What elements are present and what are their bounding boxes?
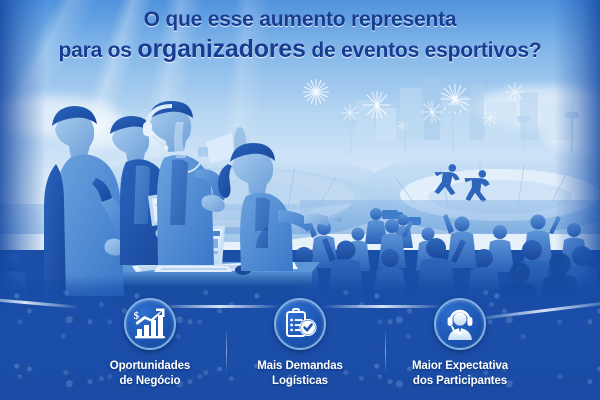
benefit-item-mais-demandas-logisticas[interactable]: Mais Demandas Logísticas	[225, 298, 375, 388]
benefit-item-oportunidades-de-negocio[interactable]: $ Oportunidades de Negócio	[75, 298, 225, 388]
headset-support-person-icon	[443, 307, 477, 341]
title-line-1: O que esse aumento representa	[0, 8, 600, 33]
benefit-label-line1: Oportunidades	[110, 360, 190, 372]
benefit-icon-circle[interactable]	[434, 298, 486, 350]
page-title: O que esse aumento representa para os or…	[0, 8, 600, 64]
benefit-label-line2: de Negócio	[120, 375, 181, 387]
benefit-label: Maior Expectativa dos Participantes	[385, 359, 535, 388]
benefit-icon-circle[interactable]: $	[124, 298, 176, 350]
growth-chart-dollar-icon: $	[133, 308, 167, 340]
title-emphasis: organizadores	[137, 35, 305, 63]
benefit-label: Oportunidades de Negócio	[75, 359, 225, 388]
benefit-label-line2: Logísticas	[272, 375, 328, 387]
title-line-2: para os organizadores de eventos esporti…	[0, 35, 600, 65]
benefit-icon-circle[interactable]	[274, 298, 326, 350]
benefit-label-line2: dos Participantes	[413, 375, 507, 387]
title-line-2-prefix: para os	[58, 39, 137, 62]
benefits-row: $ Oportunidades de Negócio	[0, 275, 600, 400]
benefit-label-line1: Mais Demandas	[257, 360, 343, 372]
svg-text:$: $	[134, 310, 140, 322]
benefit-label: Mais Demandas Logísticas	[225, 359, 375, 388]
benefit-item-maior-expectativa-dos-participantes[interactable]: Maior Expectativa dos Participantes	[385, 298, 535, 388]
clipboard-check-icon	[283, 307, 317, 341]
title-line-2-suffix: de eventos esportivos?	[306, 39, 542, 62]
benefit-label-line1: Maior Expectativa	[412, 360, 508, 372]
